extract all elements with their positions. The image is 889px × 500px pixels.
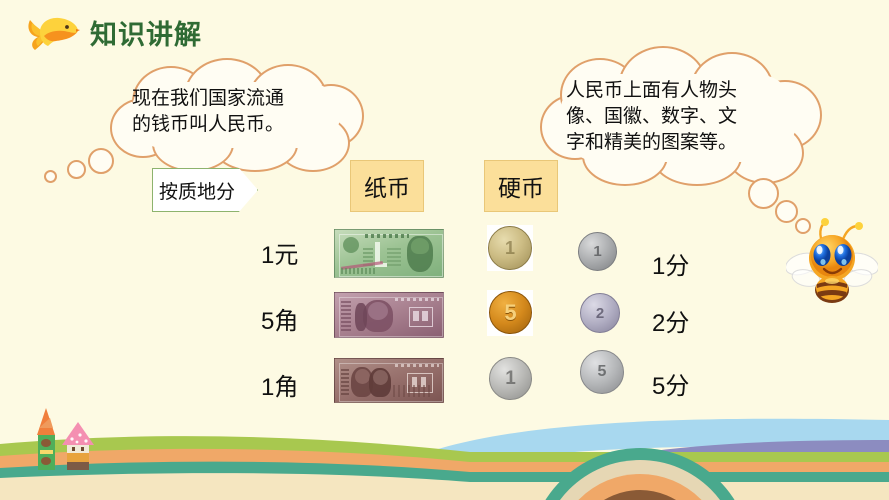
- thought-bubble-right: 人民币上面有人物头 像、国徽、数字、文 字和精美的图案等。: [540, 52, 818, 182]
- banknote-1-yuan[interactable]: [334, 229, 444, 278]
- coin-5-fen[interactable]: 5: [580, 350, 624, 394]
- coin-face-digit: 5: [490, 292, 531, 333]
- column-header-coin-label: 硬币: [498, 169, 544, 203]
- slide-root: 知识讲解 现在我们国家流通 的钱币叫人民币。 人民币上面有人物头 像、国徽、数字…: [0, 0, 889, 500]
- coin-1-fen[interactable]: 1: [578, 232, 617, 271]
- coin-2-fen[interactable]: 2: [580, 293, 620, 333]
- column-header-paper[interactable]: 纸币: [350, 160, 424, 212]
- classifier-tag[interactable]: 按质地分: [152, 168, 258, 212]
- thought-trail-dot: [775, 200, 798, 223]
- coin-face-digit: 1: [579, 233, 616, 270]
- thought-trail-dot: [44, 170, 57, 183]
- denomination-label-coin: 1分: [652, 246, 689, 281]
- coin-1-yuan[interactable]: 1: [488, 226, 532, 270]
- bird-icon: [22, 12, 80, 58]
- thought-bubble-left: 现在我们国家流通 的钱币叫人民币。: [108, 62, 360, 168]
- thought-trail-dot: [748, 178, 779, 209]
- column-header-coin[interactable]: 硬币: [484, 160, 558, 212]
- bottom-scenery: [0, 390, 889, 500]
- coin-face-digit: 5: [581, 351, 623, 393]
- banknote-5-jiao[interactable]: [334, 292, 444, 338]
- denomination-label-paper: 5角: [261, 301, 298, 336]
- thought-trail-dot: [88, 148, 114, 174]
- thought-trail-dot: [795, 218, 811, 234]
- coin-face-digit: 1: [489, 227, 531, 269]
- column-header-paper-label: 纸币: [364, 169, 410, 203]
- denomination-label-paper: 1元: [261, 235, 298, 270]
- page-title: 知识讲解: [22, 12, 202, 58]
- coin-face-digit: 2: [581, 294, 619, 332]
- page-title-text: 知识讲解: [90, 22, 202, 49]
- thought-trail-dot: [67, 160, 86, 179]
- denomination-label-coin: 2分: [652, 303, 689, 338]
- coin-5-jiao[interactable]: 5: [489, 291, 532, 334]
- thought-bubble-right-text: 人民币上面有人物头 像、国徽、数字、文 字和精美的图案等。: [566, 78, 794, 157]
- thought-bubble-left-text: 现在我们国家流通 的钱币叫人民币。: [132, 86, 338, 138]
- classifier-tag-label: 按质地分: [153, 177, 235, 204]
